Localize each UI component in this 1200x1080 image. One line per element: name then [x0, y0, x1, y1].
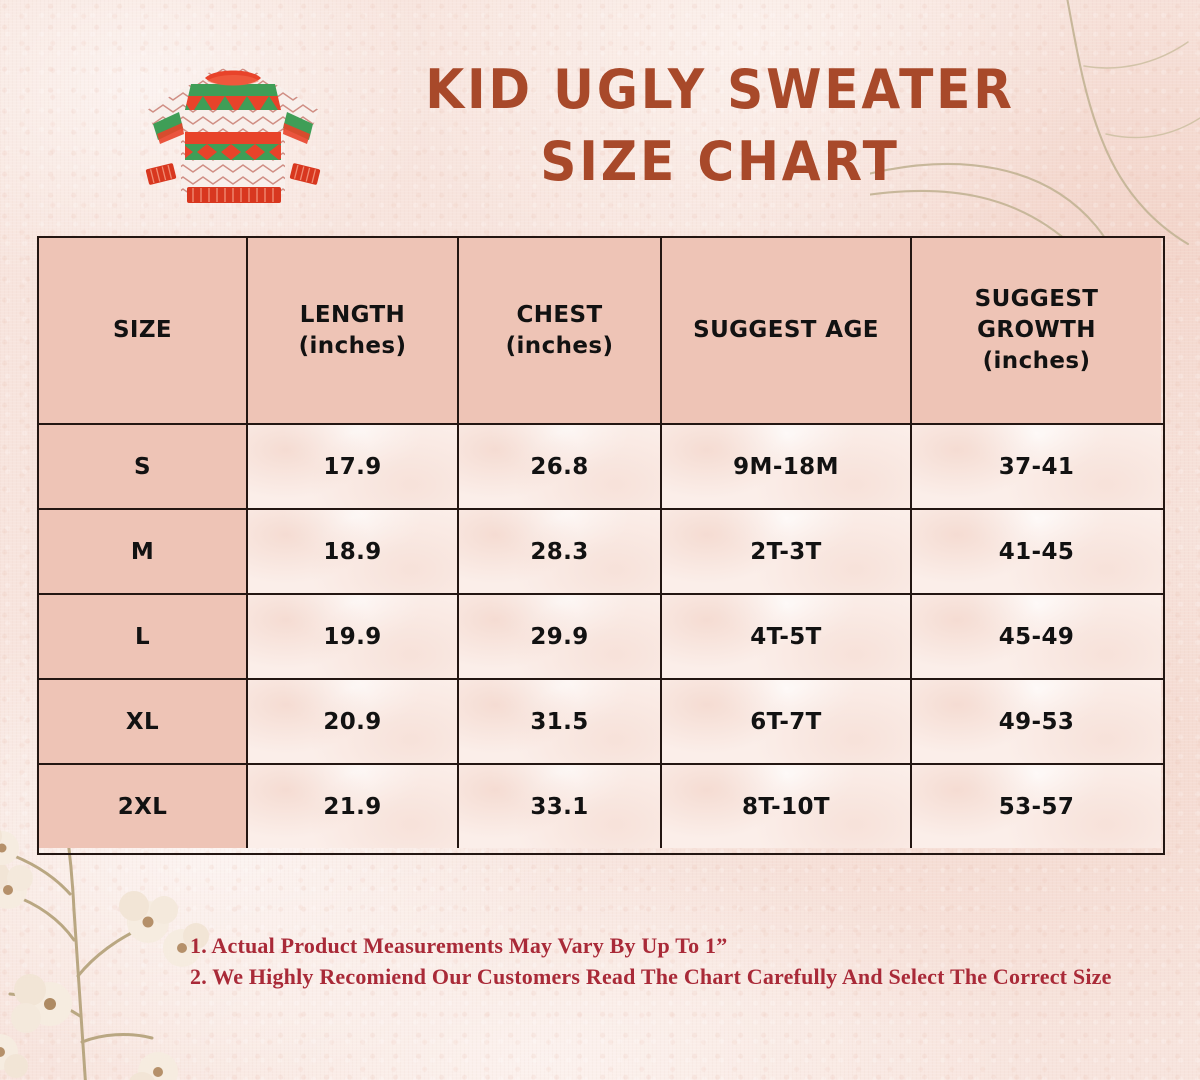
column-header-size: SIZE	[39, 238, 246, 423]
value-age: 6T-7T	[750, 709, 822, 735]
header-length-line1: LENGTH	[300, 302, 405, 328]
value-chest: 29.9	[530, 624, 588, 650]
value-length: 20.9	[323, 709, 381, 735]
footnote-1: 1. Actual Product Measurements May Vary …	[190, 930, 1180, 961]
header-size-line1: SIZE	[113, 317, 172, 343]
cell-chest: 29.9	[457, 595, 660, 678]
cell-size: M	[39, 510, 246, 593]
value-chest: 28.3	[530, 539, 588, 565]
value-growth: 41-45	[999, 539, 1075, 565]
value-size: 2XL	[118, 794, 168, 820]
value-length: 21.9	[323, 794, 381, 820]
value-size: L	[135, 624, 150, 650]
value-length: 18.9	[323, 539, 381, 565]
cell-size: L	[39, 595, 246, 678]
value-growth: 53-57	[999, 794, 1075, 820]
cell-chest: 33.1	[457, 765, 660, 848]
page-title: KID UGLY SWEATER SIZE CHART	[340, 54, 1100, 198]
cell-age: 8T-10T	[660, 765, 910, 848]
title-line-2: SIZE CHART	[367, 126, 1074, 198]
header-growth-line2: GROWTH	[977, 317, 1096, 343]
cell-size: XL	[39, 680, 246, 763]
value-age: 9M-18M	[733, 454, 839, 480]
column-header-suggest-growth: SUGGEST GROWTH (inches)	[910, 238, 1161, 423]
table-row: 2XL 21.9 33.1 8T-10T 53-57	[39, 763, 1163, 848]
header-growth-line3: (inches)	[983, 348, 1091, 374]
cell-growth: 53-57	[910, 765, 1161, 848]
column-header-chest: CHEST (inches)	[457, 238, 660, 423]
cell-chest: 28.3	[457, 510, 660, 593]
cell-length: 18.9	[246, 510, 457, 593]
size-chart-table: SIZE LENGTH (inches) CHEST (inches) SUGG…	[37, 236, 1165, 855]
title-line-1: KID UGLY SWEATER	[367, 54, 1074, 126]
cell-chest: 31.5	[457, 680, 660, 763]
cell-growth: 37-41	[910, 425, 1161, 508]
table-row: S 17.9 26.8 9M-18M 37-41	[39, 423, 1163, 508]
cell-chest: 26.8	[457, 425, 660, 508]
cell-age: 2T-3T	[660, 510, 910, 593]
size-chart-poster: KID UGLY SWEATER SIZE CHART SIZE LENGTH …	[0, 0, 1200, 1080]
cell-length: 21.9	[246, 765, 457, 848]
value-size: XL	[126, 709, 159, 735]
cell-growth: 45-49	[910, 595, 1161, 678]
value-size: M	[131, 539, 154, 565]
cell-growth: 41-45	[910, 510, 1161, 593]
ugly-sweater-icon	[133, 48, 333, 218]
cell-length: 17.9	[246, 425, 457, 508]
header-growth-line1: SUGGEST	[975, 286, 1099, 312]
value-length: 17.9	[323, 454, 381, 480]
header-chest-line2: (inches)	[506, 333, 614, 359]
cell-age: 4T-5T	[660, 595, 910, 678]
table-row: L 19.9 29.9 4T-5T 45-49	[39, 593, 1163, 678]
cell-size: 2XL	[39, 765, 246, 848]
value-length: 19.9	[323, 624, 381, 650]
cell-length: 19.9	[246, 595, 457, 678]
cell-size: S	[39, 425, 246, 508]
value-size: S	[134, 454, 151, 480]
footnotes: 1. Actual Product Measurements May Vary …	[190, 930, 1180, 992]
header-length-line2: (inches)	[299, 333, 407, 359]
column-header-length: LENGTH (inches)	[246, 238, 457, 423]
header-chest-line1: CHEST	[516, 302, 602, 328]
column-header-suggest-age: SUGGEST AGE	[660, 238, 910, 423]
value-growth: 45-49	[999, 624, 1075, 650]
cell-age: 6T-7T	[660, 680, 910, 763]
value-age: 2T-3T	[750, 539, 822, 565]
value-chest: 31.5	[530, 709, 588, 735]
value-growth: 37-41	[999, 454, 1075, 480]
value-age: 4T-5T	[750, 624, 822, 650]
cell-length: 20.9	[246, 680, 457, 763]
value-chest: 33.1	[530, 794, 588, 820]
cell-growth: 49-53	[910, 680, 1161, 763]
table-row: XL 20.9 31.5 6T-7T 49-53	[39, 678, 1163, 763]
table-row: M 18.9 28.3 2T-3T 41-45	[39, 508, 1163, 593]
footnote-2: 2. We Highly Recomiend Our Customers Rea…	[190, 961, 1180, 992]
value-growth: 49-53	[999, 709, 1075, 735]
cell-age: 9M-18M	[660, 425, 910, 508]
value-chest: 26.8	[530, 454, 588, 480]
table-header-row: SIZE LENGTH (inches) CHEST (inches) SUGG…	[39, 238, 1163, 423]
header-age-line1: SUGGEST AGE	[693, 317, 879, 343]
value-age: 8T-10T	[742, 794, 830, 820]
